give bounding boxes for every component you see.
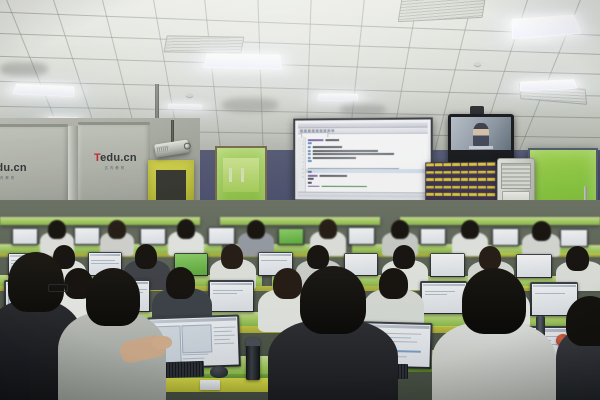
student-laptop xyxy=(420,281,467,314)
ide-code-area[interactable] xyxy=(306,137,428,193)
student-laptop xyxy=(208,227,235,245)
student-laptop xyxy=(74,227,100,245)
student-head xyxy=(566,246,589,271)
brand-name: edu.cn xyxy=(0,162,27,174)
student-laptop xyxy=(278,228,304,245)
student-laptop xyxy=(140,228,166,245)
student-laptop xyxy=(12,228,38,245)
student-laptop xyxy=(420,228,446,245)
ide-line-number-gutter: 123456 789101112 xyxy=(298,137,306,191)
student-head xyxy=(461,220,479,239)
student-head xyxy=(532,221,551,241)
student-laptop xyxy=(560,229,588,247)
projector-mount-pole xyxy=(171,120,174,142)
student-head xyxy=(319,219,337,239)
student-head xyxy=(108,220,126,239)
foreground-student-head xyxy=(86,268,140,326)
projection-screen: 123456 789101112 xyxy=(293,117,432,202)
brand-name: edu.cn xyxy=(100,152,137,164)
brand-subtitle: 达内教育 xyxy=(94,165,137,170)
tv-video-subject xyxy=(473,123,490,146)
thermos-flask[interactable] xyxy=(246,338,260,380)
student-head xyxy=(177,219,195,239)
foreground-student-head xyxy=(300,266,366,334)
student-head xyxy=(379,268,408,299)
student-head xyxy=(48,220,66,239)
eyeglasses xyxy=(48,284,68,292)
computer-mouse[interactable] xyxy=(210,366,228,378)
student-laptop xyxy=(492,228,519,246)
foreground-student-head xyxy=(462,268,526,334)
classroom-photo: Tedu.cn 达内教育 Tedu.cn 达内教育 xyxy=(0,0,600,400)
student-head xyxy=(247,220,265,239)
foreground-student-head xyxy=(566,296,600,346)
student-laptop xyxy=(516,254,552,278)
student-head xyxy=(273,268,302,299)
student-hand xyxy=(152,336,172,349)
wall-mounted-tv xyxy=(448,114,514,164)
ide-window: 123456 789101112 xyxy=(298,122,428,197)
foreground-student-head xyxy=(8,252,64,312)
student-head xyxy=(391,220,409,239)
student-laptop xyxy=(430,253,465,277)
student-head xyxy=(393,245,415,269)
smartphone[interactable] xyxy=(200,380,220,390)
student-head xyxy=(135,244,157,269)
student-laptop xyxy=(208,280,254,312)
student-head xyxy=(166,267,195,299)
student-head xyxy=(221,244,243,269)
student-head xyxy=(479,246,501,270)
student-head xyxy=(307,245,329,269)
brand-subtitle: 达内教育 xyxy=(0,175,27,180)
ide-status-bar xyxy=(298,192,428,198)
student-laptop xyxy=(348,227,375,245)
tv-screen xyxy=(451,117,511,150)
